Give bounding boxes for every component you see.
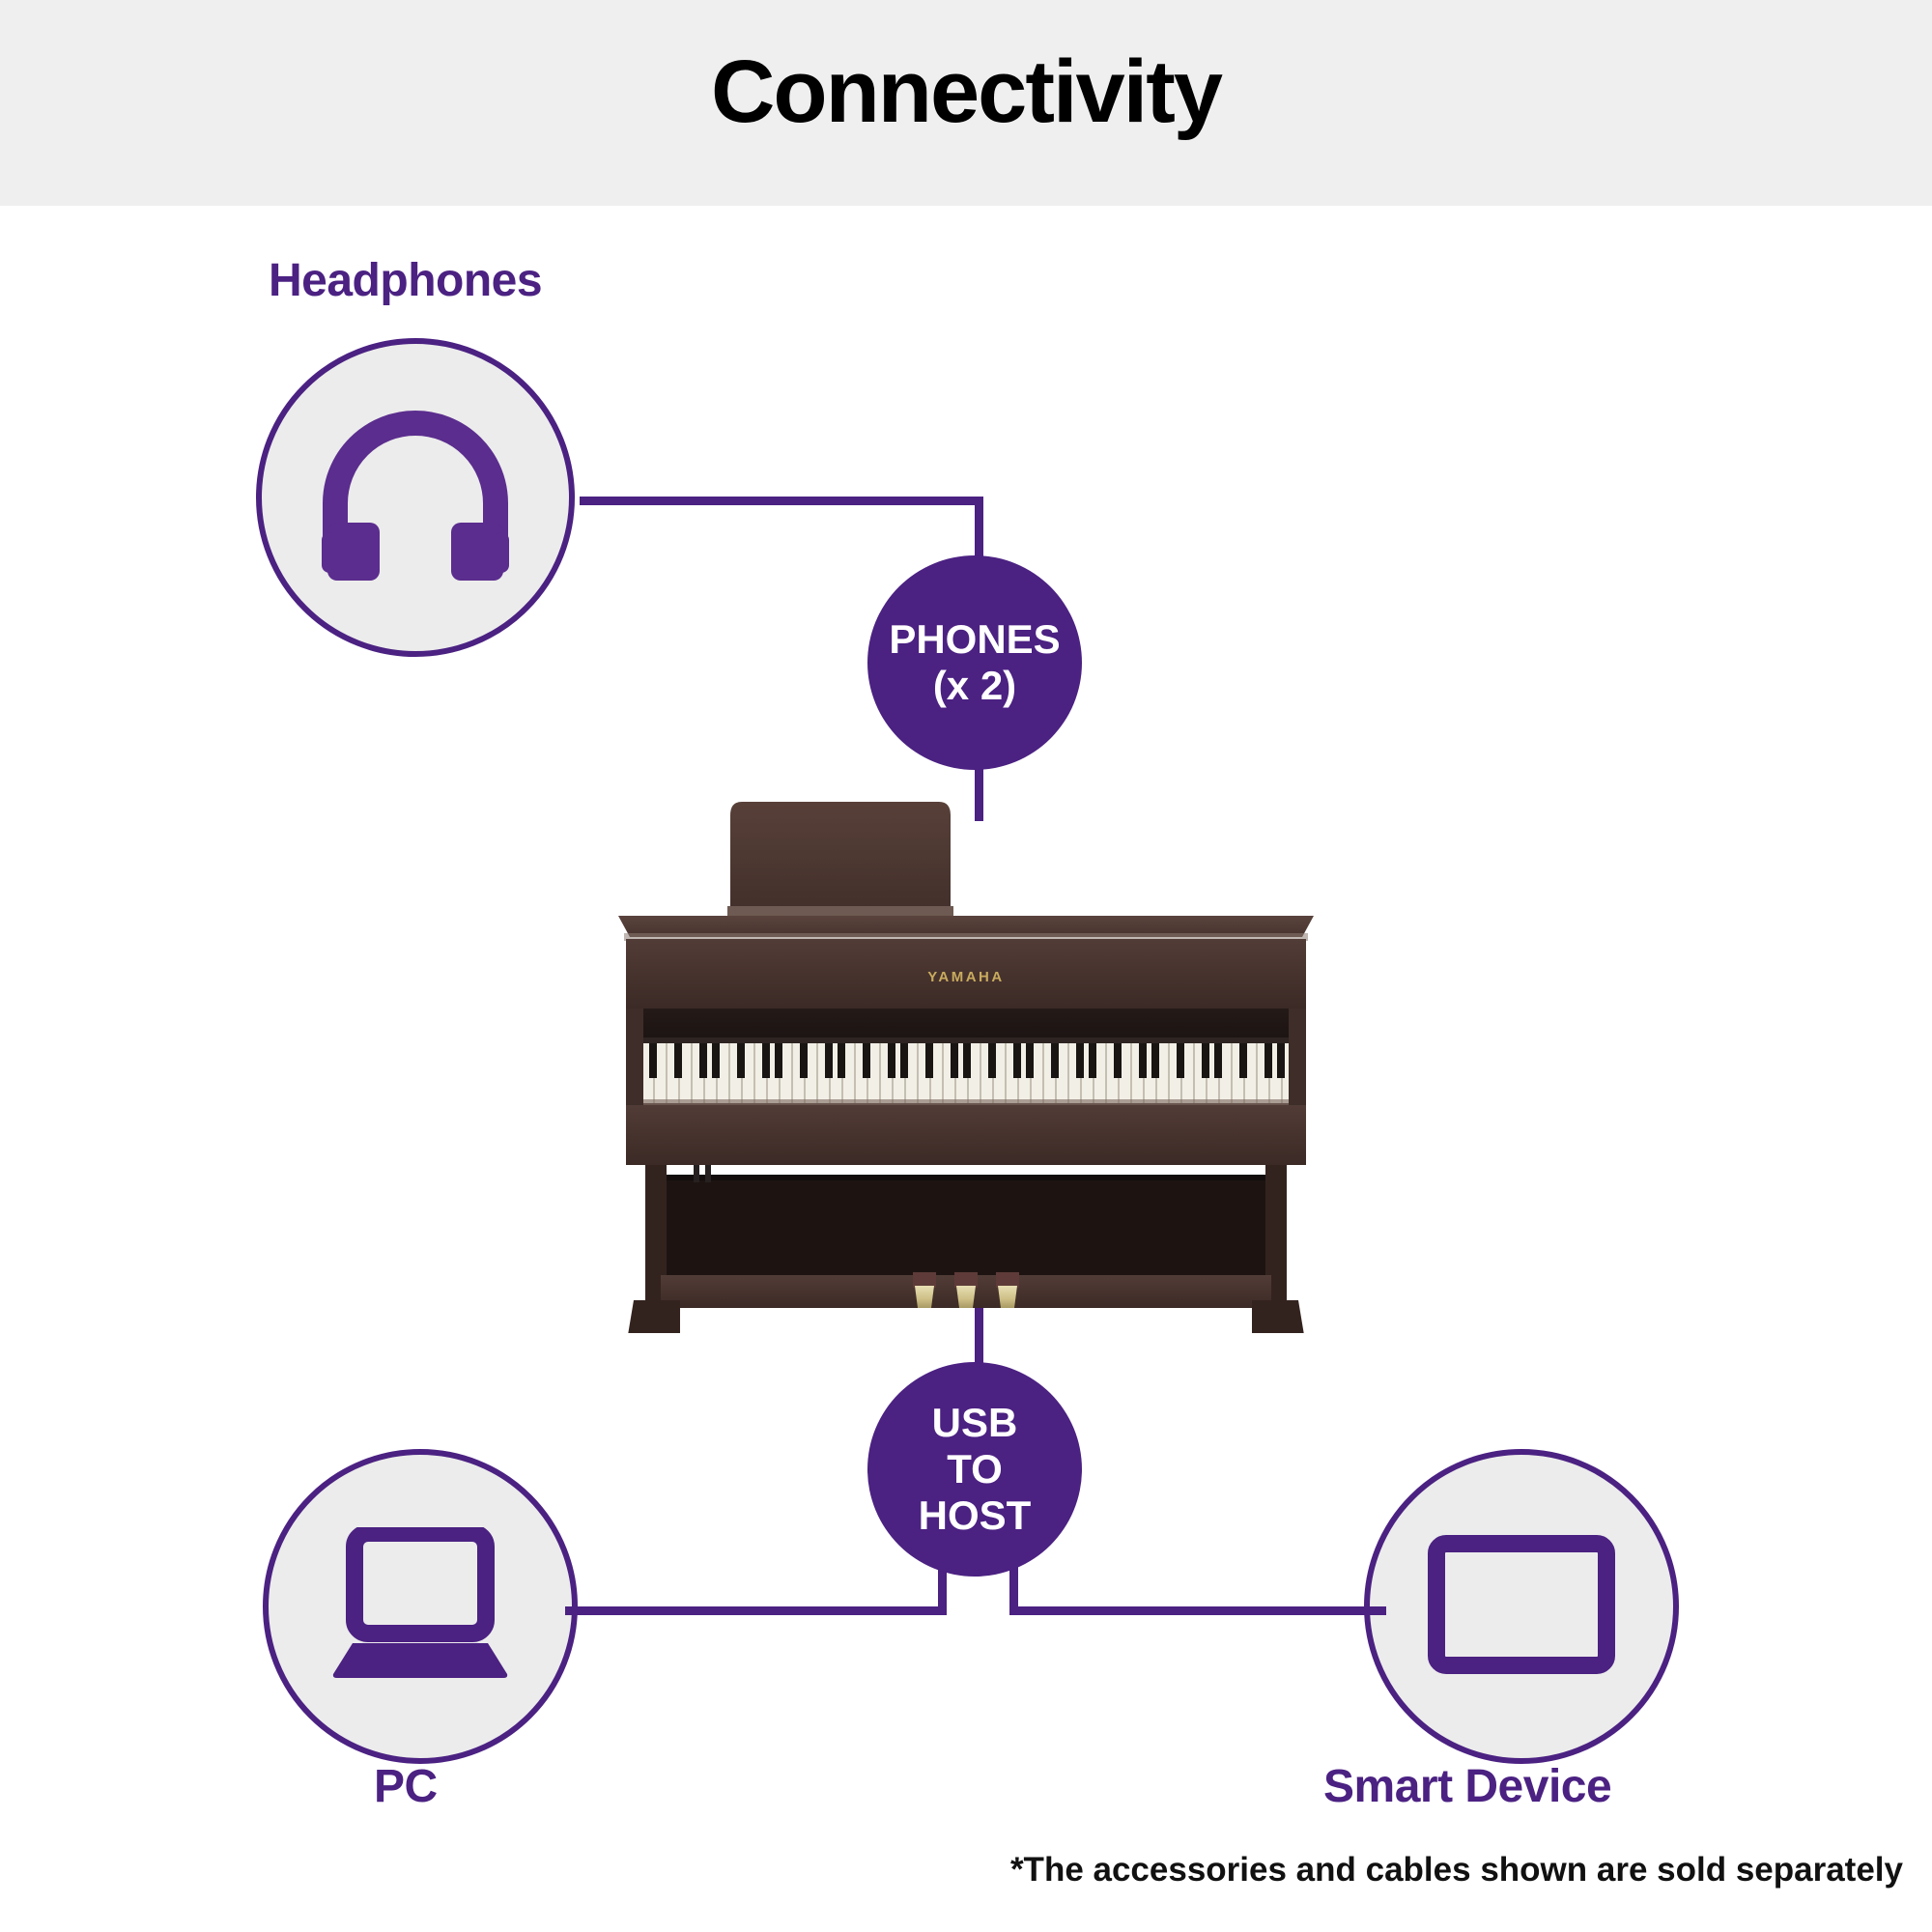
footnote-text: *The accessories and cables shown are so…	[1010, 1851, 1903, 1889]
smart-device-label: Smart Device	[1323, 1760, 1611, 1813]
phones-port-line-2: (x 2)	[933, 663, 1016, 709]
usb-port-line-1: USB	[932, 1400, 1018, 1446]
usb-port-line-2: TO	[947, 1446, 1003, 1492]
smart-device-node[interactable]	[1364, 1449, 1679, 1764]
phones-port-line-1: PHONES	[889, 616, 1060, 663]
headphones-label: Headphones	[269, 254, 542, 307]
headphones-node[interactable]	[256, 338, 575, 657]
usb-to-host-port-badge[interactable]: USB TO HOST	[867, 1362, 1082, 1577]
svg-text:YAMAHA: YAMAHA	[927, 969, 1004, 985]
yamaha-logo: YAMAHA	[927, 969, 1004, 985]
headphones-icon	[314, 409, 517, 587]
connector-usb-to-pc-horizontal	[565, 1606, 947, 1615]
pc-label: PC	[374, 1760, 438, 1813]
phones-port-badge[interactable]: PHONES (x 2)	[867, 555, 1082, 770]
connector-usb-to-smartdevice-horizontal	[1009, 1606, 1386, 1615]
page-title: Connectivity	[0, 37, 1932, 148]
connector-headphones-horizontal	[580, 497, 983, 505]
tablet-icon	[1425, 1532, 1618, 1682]
usb-port-line-3: HOST	[919, 1492, 1032, 1539]
digital-piano-image: YAMAHA	[599, 792, 1333, 1333]
pedals	[913, 1272, 1019, 1308]
pc-node[interactable]	[263, 1449, 578, 1764]
laptop-icon	[324, 1527, 517, 1687]
